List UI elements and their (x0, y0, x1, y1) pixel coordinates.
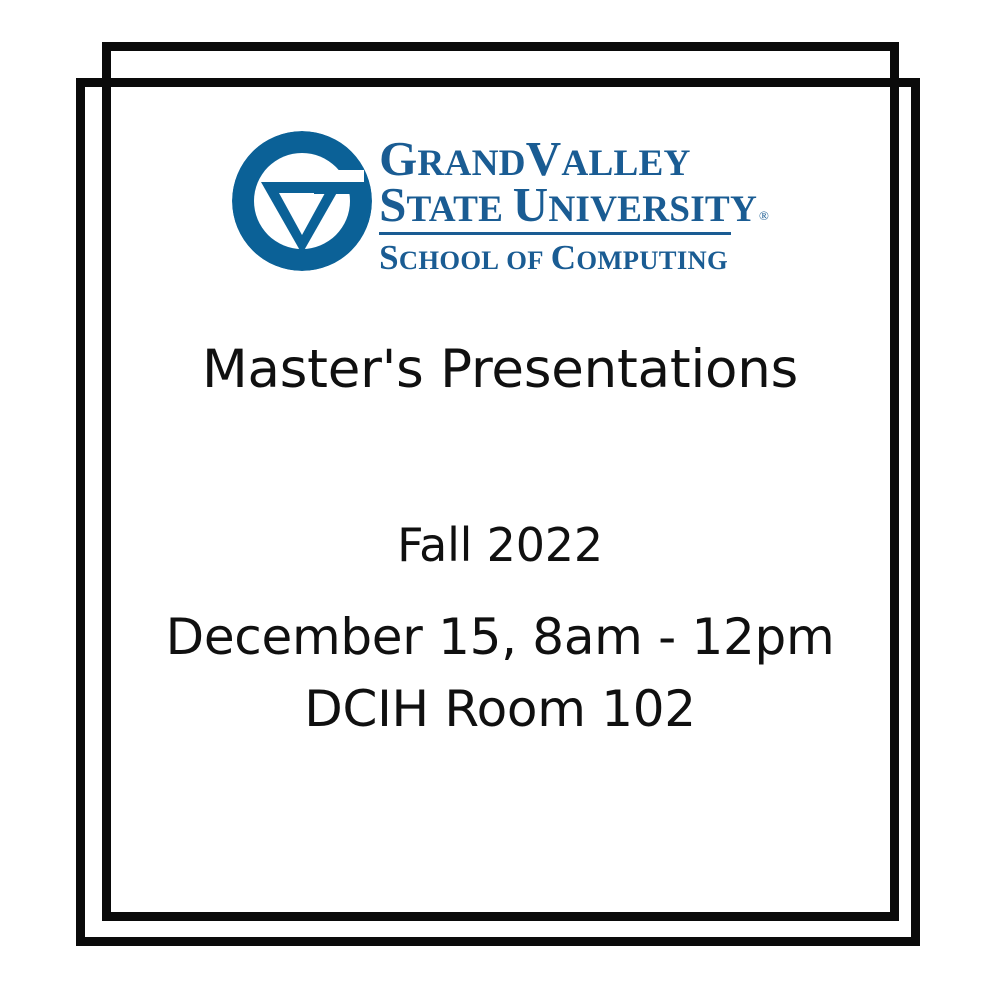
wm-l2-cap-1: S (379, 177, 406, 232)
wm-l3-rest-3: OMPUTING (576, 245, 728, 275)
wm-l3-rest-1: CHOOL (399, 245, 500, 275)
page-title: Master's Presentations (202, 339, 798, 400)
wm-l2-space (503, 189, 513, 230)
poster-content: GRANDVALLEY STATE UNIVERSITY ® SCHOOL OF… (0, 0, 1000, 1000)
gvsu-school-of-computing-logo: GRANDVALLEY STATE UNIVERSITY ® SCHOOL OF… (240, 128, 760, 277)
event-location: DCIH Room 102 (166, 680, 835, 738)
wordmark-divider-rule (379, 232, 731, 235)
wm-line2-text: STATE UNIVERSITY (379, 182, 757, 228)
wm-l1-rest-1: RAND (417, 143, 525, 184)
event-term: Fall 2022 (166, 518, 835, 572)
wm-l2-rest-2: NIVERSITY (548, 189, 757, 230)
wm-l3-cap-3: C (551, 238, 577, 277)
event-details: Fall 2022 December 15, 8am - 12pm DCIH R… (166, 518, 835, 738)
gvsu-wordmark: GRANDVALLEY STATE UNIVERSITY ® SCHOOL OF… (379, 128, 769, 277)
wm-l2-rest-1: TATE (407, 189, 504, 230)
wm-l1-rest-2: ALLEY (561, 143, 690, 184)
wordmark-line-grand-valley: GRANDVALLEY (379, 136, 691, 182)
wm-l3-space-2 (544, 245, 551, 275)
registered-trademark-icon: ® (759, 209, 769, 222)
wm-l2-cap-2: U (513, 177, 549, 232)
wm-l3-cap-1: S (379, 238, 399, 277)
poster-canvas: GRANDVALLEY STATE UNIVERSITY ® SCHOOL OF… (0, 0, 1000, 1000)
gvsu-g-v-logo-mark (231, 130, 373, 272)
event-datetime: December 15, 8am - 12pm (166, 608, 835, 666)
wordmark-line-school-of-computing: SCHOOL OF COMPUTING (379, 240, 728, 277)
wordmark-line-state-university: STATE UNIVERSITY ® (379, 182, 769, 228)
wm-l3-rest-2: OF (506, 245, 544, 275)
